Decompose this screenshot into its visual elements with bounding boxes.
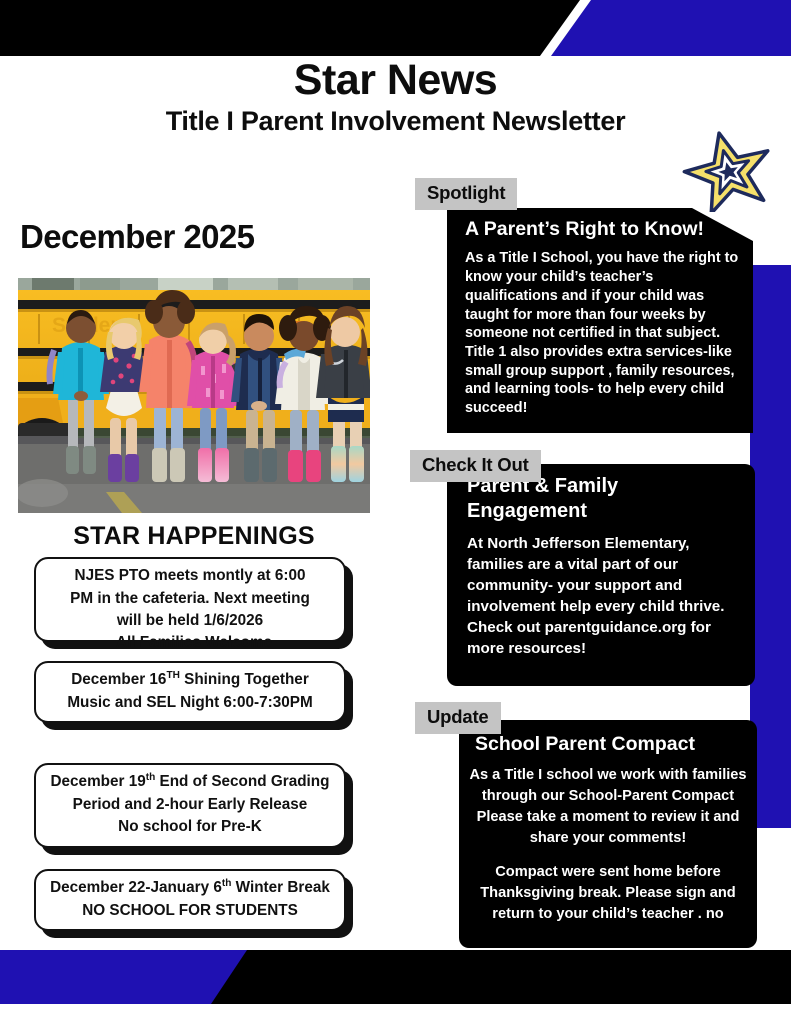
month-heading: December 2025	[20, 218, 254, 256]
students-bus-photo: Student	[18, 278, 370, 513]
paragraph-spacer	[469, 848, 747, 862]
card-compact-title: School Parent Compact	[469, 732, 747, 756]
all-families-welcome-note: All Families Welcome	[18, 634, 370, 652]
top-black-band	[0, 0, 580, 56]
event-box-grading-period: December 19th End of Second GradingPerio…	[34, 763, 346, 848]
page-subtitle: Title I Parent Involvement Newsletter	[0, 106, 791, 137]
paragraph: At North Jefferson Elementary, families …	[467, 534, 741, 660]
tab-update: Update	[415, 702, 501, 734]
event-box-pto: NJES PTO meets montly at 6:00PM in the c…	[34, 557, 346, 642]
card-spotlight-title: A Parent’s Right to Know!	[461, 217, 739, 241]
paragraph: As a Title I School, you have the right …	[465, 249, 739, 343]
paragraph: Compact were sent home before Thanksgivi…	[469, 862, 747, 924]
tab-check-it-out: Check It Out	[410, 450, 541, 482]
card-engagement-body: At North Jefferson Elementary, families …	[461, 534, 741, 660]
bottom-black-band	[211, 950, 791, 1004]
card-spotlight-body: As a Title I School, you have the right …	[461, 249, 739, 417]
newsletter-page: Star News Title I Parent Involvement New…	[0, 0, 791, 1024]
star-happenings-title: STAR HAPPENINGS	[18, 522, 370, 551]
star-icon	[676, 126, 780, 212]
top-blue-band	[551, 0, 791, 56]
page-title: Star News	[0, 56, 791, 104]
event-box-winter-break: December 22-January 6th Winter BreakNO S…	[34, 869, 346, 931]
paragraph: As a Title I school we work with familie…	[469, 765, 747, 848]
masthead: Star News Title I Parent Involvement New…	[0, 56, 791, 137]
card-spotlight: A Parent’s Right to Know! As a Title I S…	[447, 208, 753, 433]
paragraph: Title 1 also provides extra services-lik…	[465, 343, 739, 418]
tab-spotlight: Spotlight	[415, 178, 517, 210]
card-compact-body: As a Title I school we work with familie…	[469, 765, 747, 924]
event-box-shining-together: December 16TH Shining TogetherMusic and …	[34, 661, 346, 723]
card-parent-family-engagement: Parent & Family Engagement At North Jeff…	[447, 464, 755, 686]
card-school-parent-compact: School Parent Compact As a Title I schoo…	[459, 720, 757, 948]
